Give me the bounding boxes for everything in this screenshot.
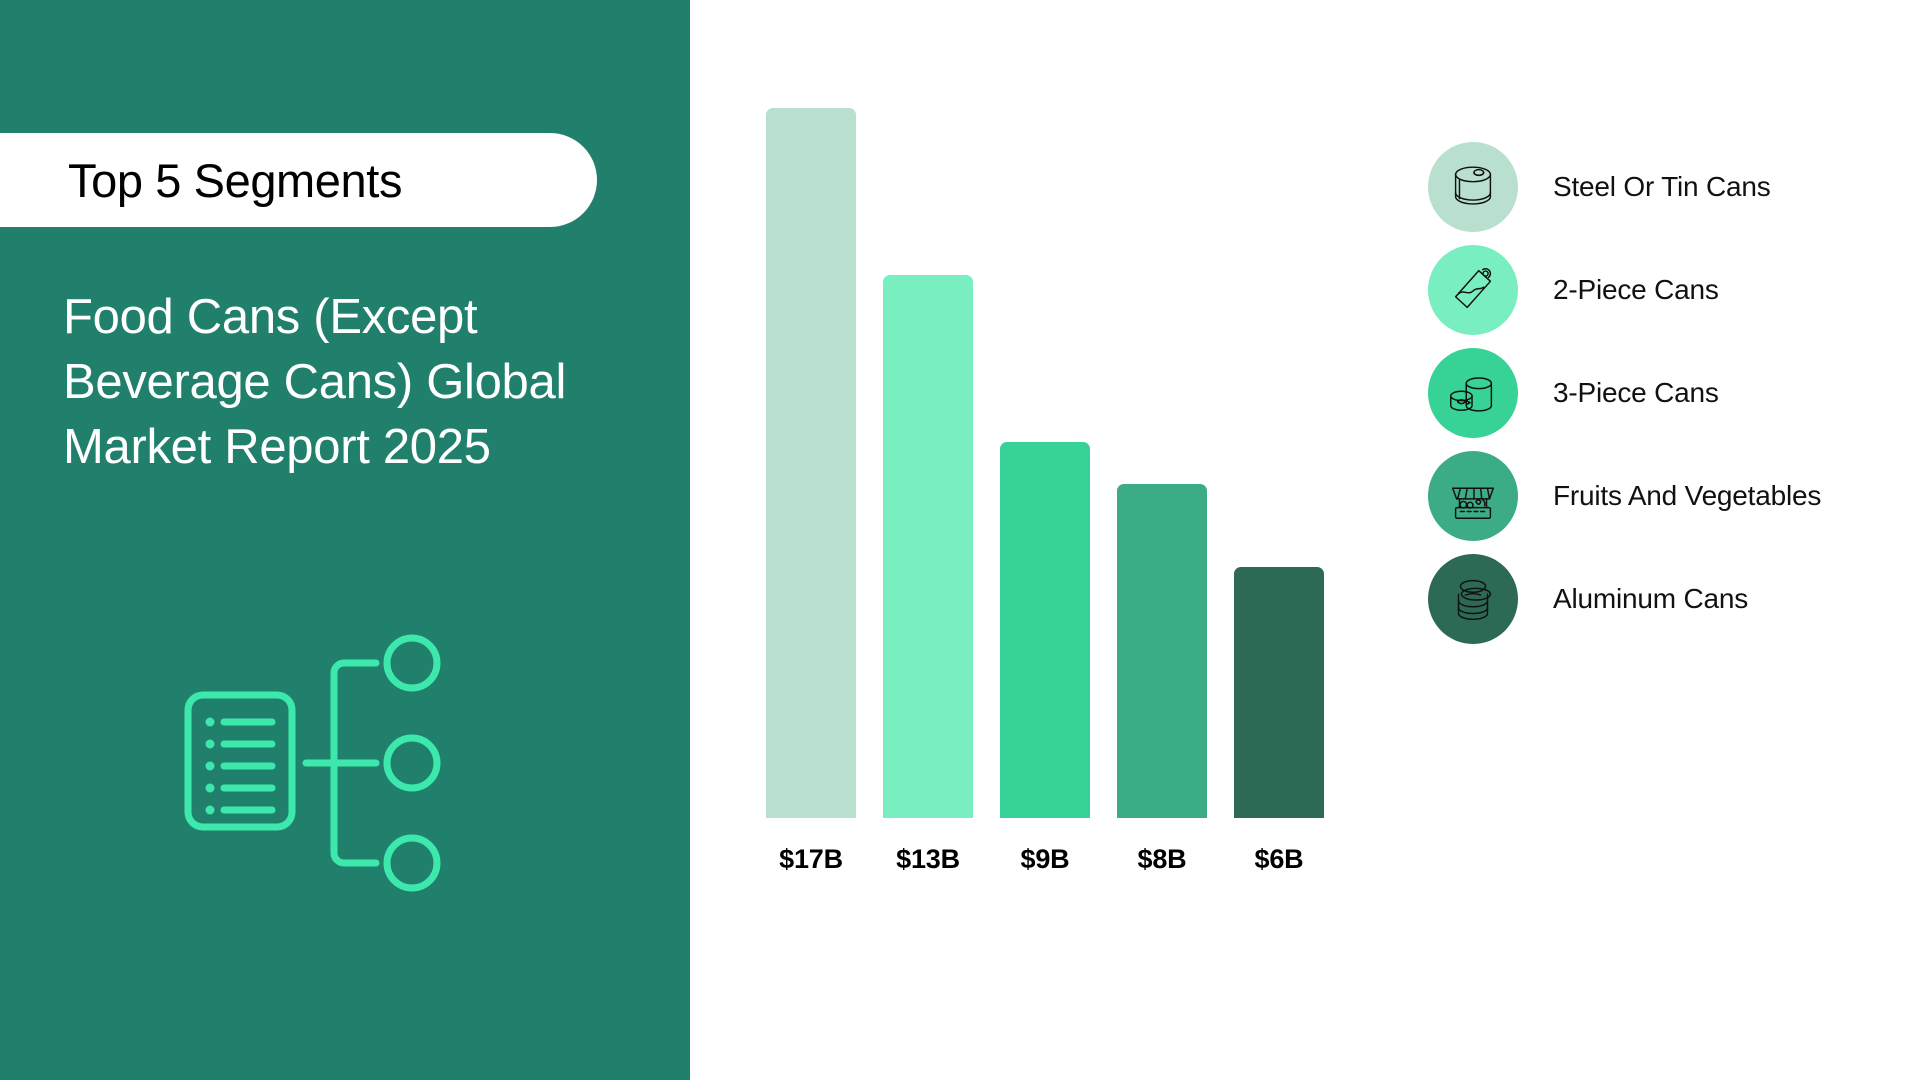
top-segments-badge: Top 5 Segments xyxy=(0,133,597,227)
legend-item-label: 3-Piece Cans xyxy=(1553,377,1719,409)
legend-item: Aluminum Cans xyxy=(1428,547,1898,650)
bar-column xyxy=(1117,108,1207,818)
three-piece-can-icon xyxy=(1428,348,1518,438)
legend-item: 3-Piece Cans xyxy=(1428,341,1898,444)
bar-column xyxy=(766,108,856,818)
top-segments-badge-label: Top 5 Segments xyxy=(68,153,402,208)
legend-item-label: 2-Piece Cans xyxy=(1553,274,1719,306)
bar xyxy=(883,275,973,818)
bar-value-label: $8B xyxy=(1117,844,1207,875)
bar-value-label: $13B xyxy=(883,844,973,875)
legend-item: 2-Piece Cans xyxy=(1428,238,1898,341)
bar-column xyxy=(1000,108,1090,818)
bar-value-label: $17B xyxy=(766,844,856,875)
chart-area: $17B$13B$9B$8B$6B Steel Or Tin Cans2-Pie… xyxy=(690,0,1920,1080)
report-segmentation-icon xyxy=(168,615,468,915)
two-piece-can-icon xyxy=(1428,245,1518,335)
infographic-canvas: Top 5 Segments Food Cans (Except Beverag… xyxy=(0,0,1920,1080)
aluminum-can-icon xyxy=(1428,554,1518,644)
legend-item-label: Aluminum Cans xyxy=(1553,583,1748,615)
bar xyxy=(1117,484,1207,818)
bar-value-label: $9B xyxy=(1000,844,1090,875)
bar-chart-plot xyxy=(766,108,1356,818)
tin-can-icon xyxy=(1428,142,1518,232)
bar-column xyxy=(1234,108,1324,818)
bar-column xyxy=(883,108,973,818)
bar xyxy=(766,108,856,818)
report-title: Food Cans (Except Beverage Cans) Global … xyxy=(63,285,643,480)
legend-item-label: Fruits And Vegetables xyxy=(1553,480,1821,512)
legend-item-label: Steel Or Tin Cans xyxy=(1553,171,1771,203)
legend-item: Fruits And Vegetables xyxy=(1428,444,1898,547)
legend-item: Steel Or Tin Cans xyxy=(1428,135,1898,238)
bar-value-labels: $17B$13B$9B$8B$6B xyxy=(766,844,1356,875)
bar-value-label: $6B xyxy=(1234,844,1324,875)
bar-chart: $17B$13B$9B$8B$6B xyxy=(766,120,1356,930)
bar xyxy=(1000,442,1090,818)
bar xyxy=(1234,567,1324,818)
left-title-panel: Top 5 Segments Food Cans (Except Beverag… xyxy=(0,0,690,1080)
market-stall-icon xyxy=(1428,451,1518,541)
chart-legend: Steel Or Tin Cans2-Piece Cans3-Piece Can… xyxy=(1428,135,1898,650)
